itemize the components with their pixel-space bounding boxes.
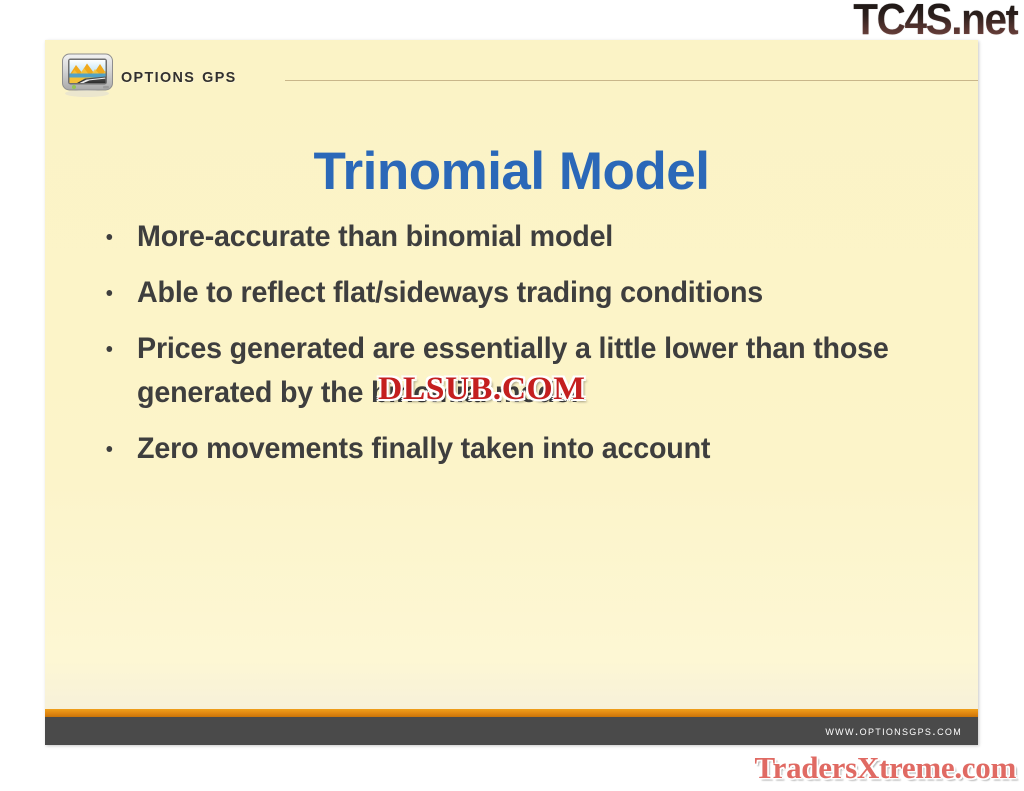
brand-name: Options GPS [121,64,237,88]
bullet-list: More-accurate than binomial model Able t… [95,215,955,483]
header-divider-line [285,80,978,81]
gps-device-icon [61,52,115,98]
bullet-dot-icon [106,446,112,452]
slide-title: Trinomial Model [45,141,978,203]
bullet-item: Zero movements finally taken into accoun… [95,427,916,471]
bullet-text: More-accurate than binomial model [137,220,613,253]
bullet-item: Able to reflect flat/sideways trading co… [95,271,916,315]
bullet-dot-icon [106,234,112,240]
bullet-text: Able to reflect flat/sideways trading co… [137,276,763,309]
bullet-item: More-accurate than binomial model [95,215,916,259]
bullet-text: Zero movements finally taken into accoun… [137,432,710,465]
bullet-dot-icon [106,290,112,296]
slide-header: Options GPS [45,40,978,102]
dlsub-watermark: DLSUB.COM [378,371,586,408]
footer-website-url: www.OptionsGPS.com [825,723,962,738]
tc4s-watermark: TC4S.net [854,0,1018,44]
footer-bar: www.OptionsGPS.com [45,717,978,745]
footer-orange-bar [45,709,978,717]
bullet-dot-icon [106,346,112,352]
tradersxtreme-watermark: TradersXtreme.com [755,751,1016,785]
